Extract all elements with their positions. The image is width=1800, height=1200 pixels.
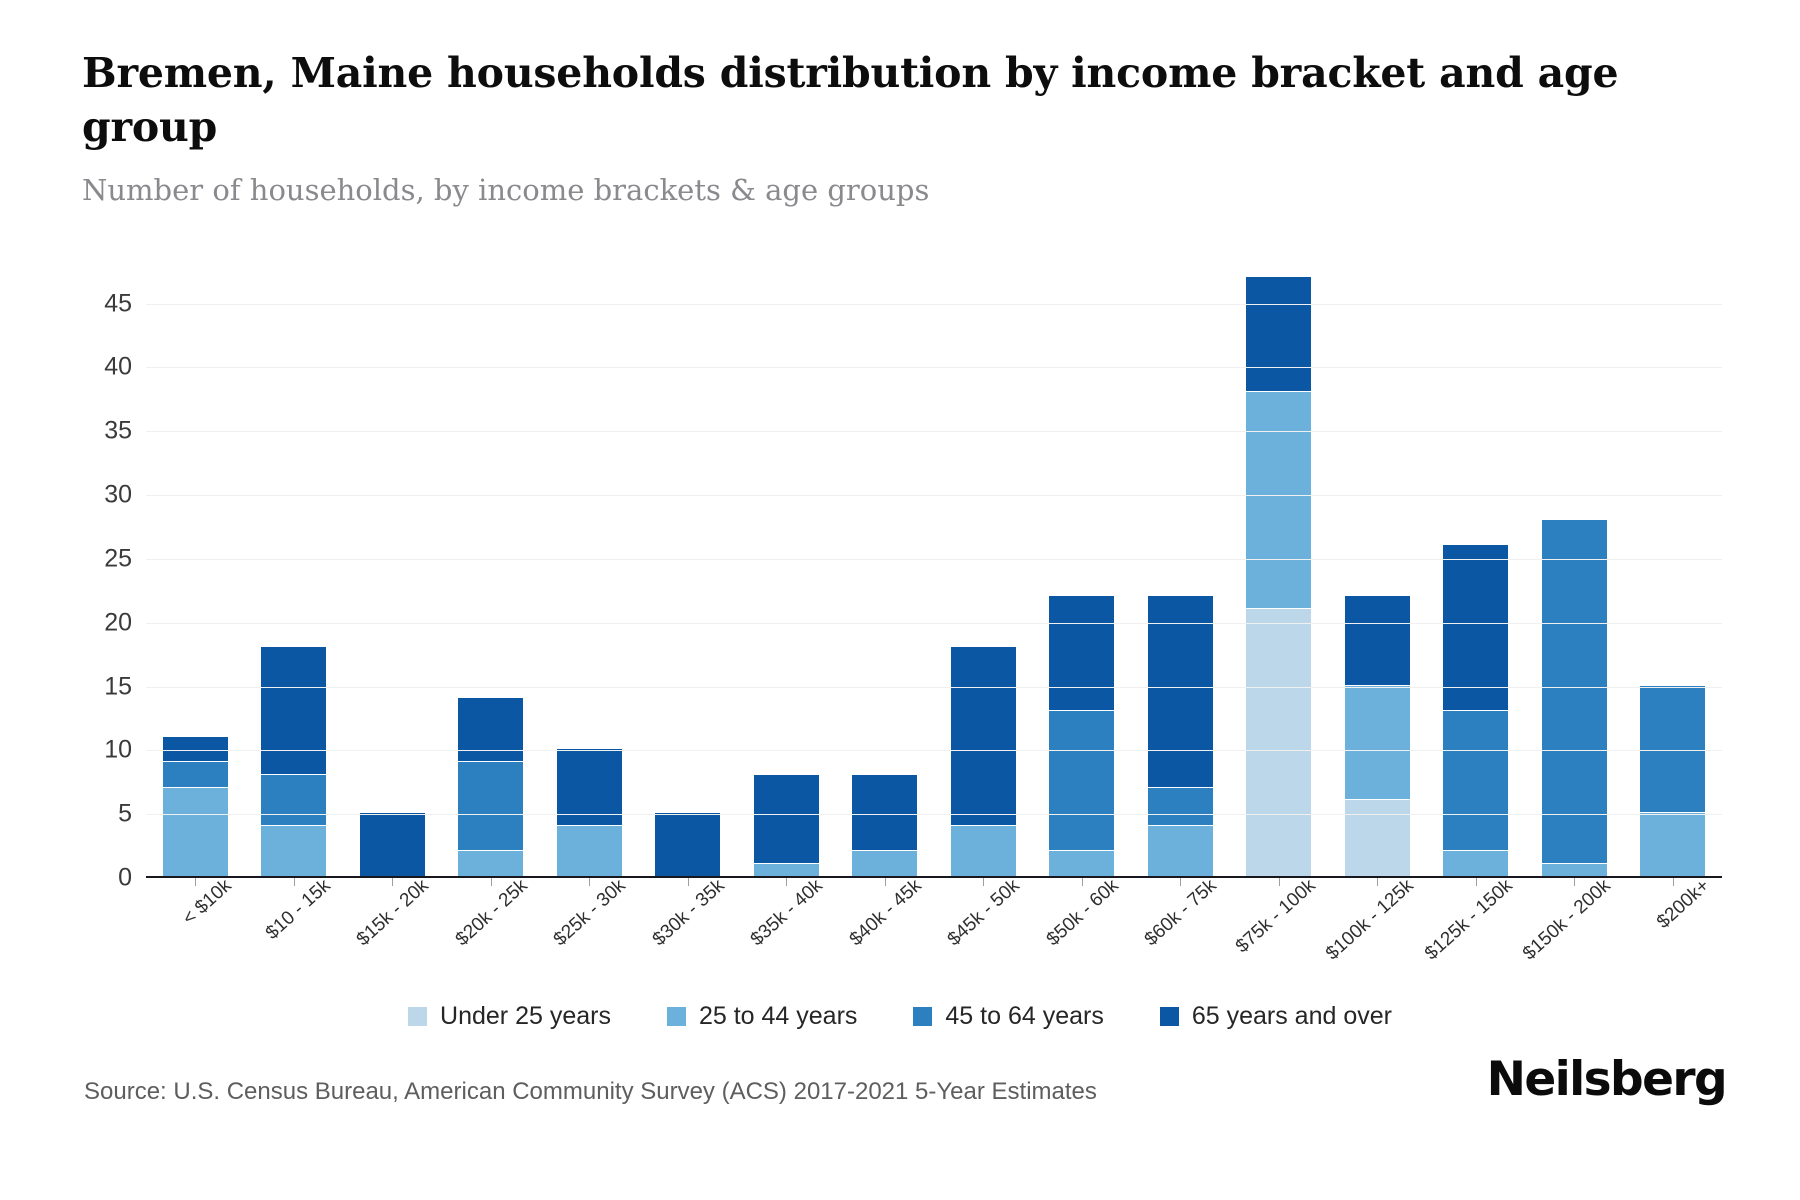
bar-segment[interactable] [1148, 595, 1213, 786]
y-axis-tick-label: 5 [118, 800, 132, 829]
source-note: Source: U.S. Census Bureau, American Com… [84, 1078, 1097, 1106]
bar-segment[interactable] [1246, 391, 1311, 608]
legend-item[interactable]: Under 25 years [408, 1002, 611, 1031]
legend-item[interactable]: 25 to 44 years [667, 1002, 857, 1031]
chart-page: Bremen, Maine households distribution by… [0, 0, 1800, 1200]
x-label-slot: $25k - 30k [540, 886, 639, 1006]
bar-segment[interactable] [852, 774, 917, 851]
x-axis-tick [786, 878, 787, 886]
x-axis-tick [1673, 878, 1674, 886]
chart-header: Bremen, Maine households distribution by… [82, 46, 1682, 210]
y-axis-tick-label: 35 [104, 417, 132, 446]
x-axis-tick-label-text: $100k - 125k [1322, 875, 1418, 965]
x-axis-tick [1180, 878, 1181, 886]
stacked-bar[interactable] [261, 646, 326, 876]
x-label-slot: $10 - 15k [245, 886, 344, 1006]
bar-segment[interactable] [1148, 787, 1213, 825]
x-axis-tick [1377, 878, 1378, 886]
x-label-slot: $150k - 200k [1525, 886, 1624, 1006]
bar-segment[interactable] [1443, 544, 1508, 710]
gridline [146, 623, 1722, 624]
y-axis-tick-label: 0 [118, 864, 132, 893]
x-axis-tick [1279, 878, 1280, 886]
bar-segment[interactable] [1246, 608, 1311, 876]
y-axis-tick-label: 40 [104, 353, 132, 382]
legend-item[interactable]: 65 years and over [1160, 1002, 1392, 1031]
x-axis-tick-label-text: $40k - 45k [845, 875, 926, 951]
bar-segment[interactable] [1049, 710, 1114, 850]
x-label-slot: $125k - 150k [1427, 886, 1526, 1006]
bar-segment[interactable] [1345, 685, 1410, 800]
legend-swatch-icon [913, 1007, 932, 1026]
bar-segment[interactable] [163, 736, 228, 762]
stacked-bar[interactable] [951, 646, 1016, 876]
x-axis-line [146, 876, 1722, 878]
x-label-slot: $50k - 60k [1033, 886, 1132, 1006]
x-axis-tick-label-text: $10 - 15k [261, 875, 335, 944]
x-axis-tick [983, 878, 984, 886]
bar-segment[interactable] [261, 646, 326, 774]
gridline [146, 687, 1722, 688]
bar-segment[interactable] [458, 761, 523, 850]
stacked-bar[interactable] [852, 774, 917, 876]
legend-label: 25 to 44 years [699, 1002, 857, 1031]
x-label-slot: $60k - 75k [1131, 886, 1230, 1006]
plot-grid [146, 278, 1722, 878]
page-title: Bremen, Maine households distribution by… [82, 46, 1642, 154]
x-label-slot: $30k - 35k [639, 886, 738, 1006]
x-axis-tick [195, 878, 196, 886]
y-axis-tick-label: 10 [104, 736, 132, 765]
chart-legend: Under 25 years25 to 44 years45 to 64 yea… [0, 1002, 1800, 1031]
y-axis-tick-label: 25 [104, 544, 132, 573]
x-label-slot: $40k - 45k [836, 886, 935, 1006]
x-axis-tick [885, 878, 886, 886]
x-label-slot: $20k - 25k [442, 886, 541, 1006]
x-axis-tick [392, 878, 393, 886]
x-label-slot: $100k - 125k [1328, 886, 1427, 1006]
bar-segment[interactable] [163, 761, 228, 787]
x-axis-tick [1476, 878, 1477, 886]
x-axis-tick-label-text: $200k+ [1653, 875, 1714, 933]
brand-logo: Neilsberg [1487, 1052, 1726, 1107]
bar-segment[interactable] [1246, 276, 1311, 391]
x-axis-tick-label-text: $50k - 60k [1042, 875, 1123, 951]
bar-segment[interactable] [951, 646, 1016, 825]
x-axis-tick [589, 878, 590, 886]
x-axis-tick [294, 878, 295, 886]
x-label-slot: $45k - 50k [934, 886, 1033, 1006]
gridline [146, 750, 1722, 751]
gridline [146, 559, 1722, 560]
bar-segment[interactable] [458, 697, 523, 761]
bar-segment[interactable] [1345, 595, 1410, 684]
gridline [146, 495, 1722, 496]
x-axis-tick [688, 878, 689, 886]
gridline [146, 367, 1722, 368]
gridline [146, 814, 1722, 815]
x-axis-tick-label-text: $125k - 150k [1421, 875, 1517, 965]
x-label-slot: $15k - 20k [343, 886, 442, 1006]
stacked-bar[interactable] [1049, 595, 1114, 876]
x-axis-tick [1574, 878, 1575, 886]
stacked-bar[interactable] [1246, 276, 1311, 876]
y-axis-tick-label: 15 [104, 672, 132, 701]
bar-segment[interactable] [1640, 685, 1705, 813]
legend-swatch-icon [1160, 1007, 1179, 1026]
bar-segment[interactable] [261, 774, 326, 825]
stacked-bar[interactable] [163, 736, 228, 876]
legend-label: 65 years and over [1192, 1002, 1392, 1031]
legend-item[interactable]: 45 to 64 years [913, 1002, 1103, 1031]
y-axis-tick-label: 20 [104, 608, 132, 637]
gridline [146, 431, 1722, 432]
x-axis-tick-label-text: $20k - 25k [451, 875, 532, 951]
x-axis-tick-label-text: $30k - 35k [648, 875, 729, 951]
legend-label: 45 to 64 years [945, 1002, 1103, 1031]
gridline [146, 304, 1722, 305]
y-axis: 051015202530354045 [82, 278, 146, 878]
x-axis-tick [1082, 878, 1083, 886]
chart-plot-area: 051015202530354045 [82, 278, 1722, 878]
chart-subtitle: Number of households, by income brackets… [82, 172, 1682, 210]
bar-segment[interactable] [1049, 595, 1114, 710]
bar-segment[interactable] [163, 787, 228, 876]
legend-swatch-icon [408, 1007, 427, 1026]
x-axis-tick-label-text: $60k - 75k [1141, 875, 1222, 951]
x-axis-tick-label-text: $15k - 20k [353, 875, 434, 951]
x-axis-tick-label-text: $25k - 30k [550, 875, 631, 951]
stacked-bar[interactable] [1148, 595, 1213, 876]
legend-label: Under 25 years [440, 1002, 611, 1031]
x-label-slot: $200k+ [1624, 886, 1723, 1006]
legend-swatch-icon [667, 1007, 686, 1026]
x-label-slot: $75k - 100k [1230, 886, 1329, 1006]
x-axis-labels: < $10k$10 - 15k$15k - 20k$20k - 25k$25k … [146, 886, 1722, 1006]
x-label-slot: < $10k [146, 886, 245, 1006]
x-axis-tick-label-text: < $10k [179, 875, 237, 930]
y-axis-tick-label: 30 [104, 481, 132, 510]
y-axis-tick-label: 45 [104, 289, 132, 318]
x-axis-tick-label-text: $150k - 200k [1519, 875, 1615, 965]
x-axis-tick-label-text: $75k - 100k [1232, 875, 1321, 958]
x-axis-tick-label-text: $35k - 40k [747, 875, 828, 951]
x-axis-tick-label-text: $45k - 50k [944, 875, 1025, 951]
x-label-slot: $35k - 40k [737, 886, 836, 1006]
bar-segment[interactable] [1542, 519, 1607, 864]
x-axis-tick [491, 878, 492, 886]
stacked-bar[interactable] [754, 774, 819, 876]
stacked-bar[interactable] [557, 748, 622, 876]
